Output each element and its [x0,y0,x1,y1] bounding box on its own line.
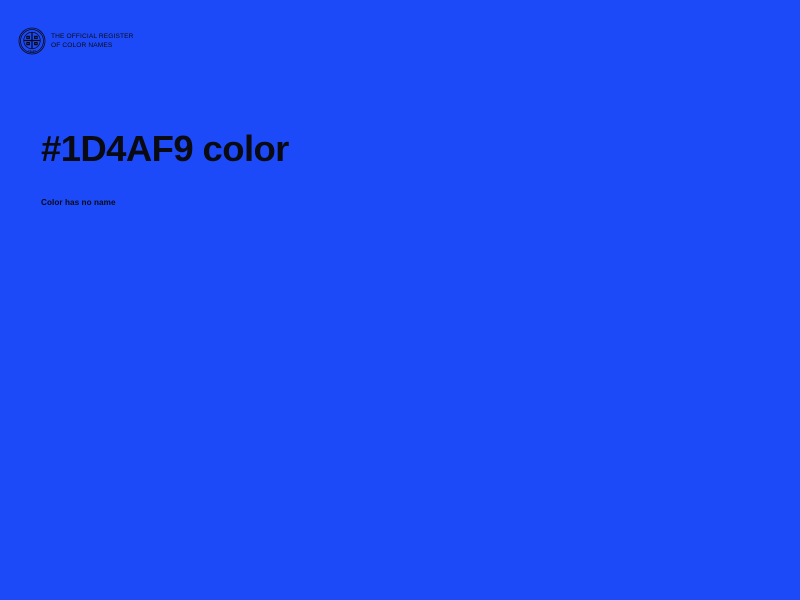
color-info-block: #1D4AF9 color Color has no name [41,128,741,209]
page-title: #1D4AF9 color [41,128,741,170]
brand-wordmark-line-1: THE OFFICIAL REGISTER [51,33,134,41]
register-seal-icon [18,27,46,55]
brand-header[interactable]: THE OFFICIAL REGISTER OF COLOR NAMES [18,27,134,55]
brand-wordmark: THE OFFICIAL REGISTER OF COLOR NAMES [51,32,134,50]
color-name-status: Color has no name [41,197,741,209]
brand-wordmark-line-2: OF COLOR NAMES [51,42,134,50]
